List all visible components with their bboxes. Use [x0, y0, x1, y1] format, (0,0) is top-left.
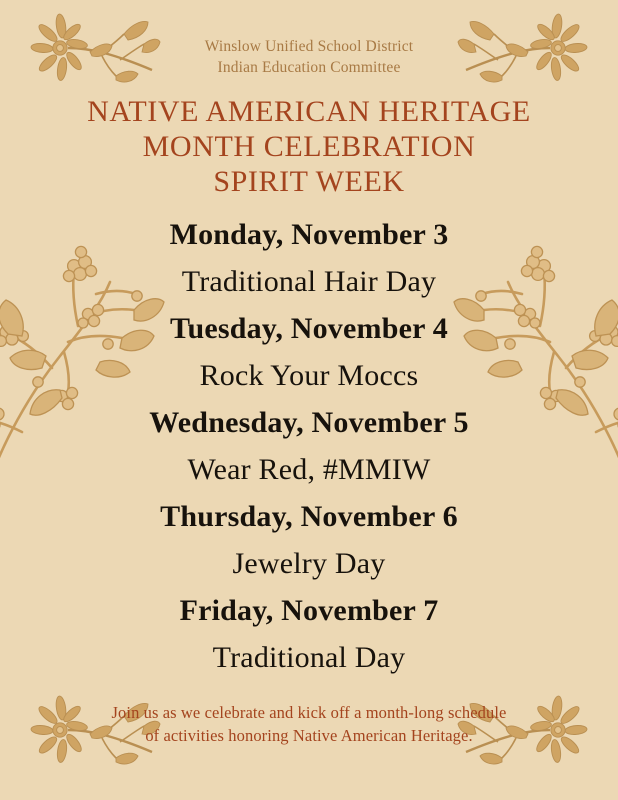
schedule-activity-1: Rock Your Moccs [0, 352, 618, 399]
organization-line-2: Indian Education Committee [0, 57, 618, 78]
schedule-activity-0: Traditional Hair Day [0, 258, 618, 305]
poster-content: Winslow Unified School District Indian E… [0, 0, 618, 800]
footer-line-2: of activities honoring Native American H… [0, 724, 618, 747]
schedule-day-2: Wednesday, November 5 [0, 399, 618, 446]
schedule-activity-3: Jewelry Day [0, 540, 618, 587]
organization-header: Winslow Unified School District Indian E… [0, 0, 618, 78]
schedule-day-3: Thursday, November 6 [0, 493, 618, 540]
schedule-day-0: Monday, November 3 [0, 211, 618, 258]
title-line-1: Native American Heritage [0, 94, 618, 129]
spirit-week-schedule: Monday, November 3 Traditional Hair Day … [0, 211, 618, 681]
schedule-day-4: Friday, November 7 [0, 587, 618, 634]
schedule-day-1: Tuesday, November 4 [0, 305, 618, 352]
title-line-2: Month Celebration [0, 129, 618, 164]
footer-line-1: Join us as we celebrate and kick off a m… [0, 701, 618, 724]
poster: Winslow Unified School District Indian E… [0, 0, 618, 800]
page-title: Native American Heritage Month Celebrati… [0, 94, 618, 199]
title-line-3: Spirit Week [0, 164, 618, 199]
schedule-activity-2: Wear Red, #MMIW [0, 446, 618, 493]
schedule-activity-4: Traditional Day [0, 634, 618, 681]
organization-line-1: Winslow Unified School District [0, 36, 618, 57]
footer-note: Join us as we celebrate and kick off a m… [0, 701, 618, 747]
